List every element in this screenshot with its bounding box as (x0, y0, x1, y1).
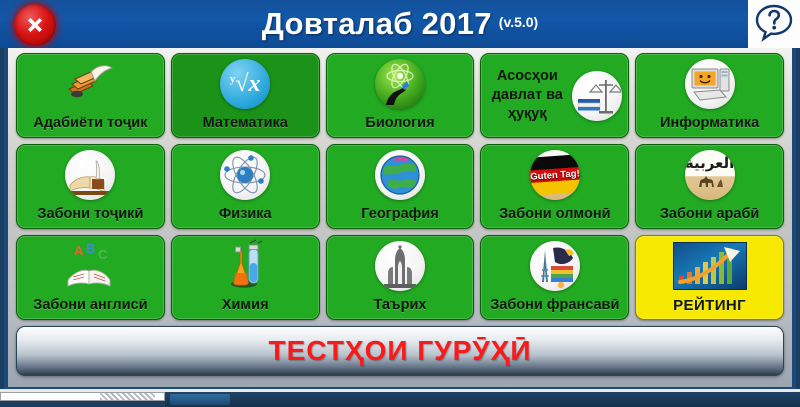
subject-tile-asoshoi-davlat-va-huquq[interactable]: Асосҳои давлат ва ҳуқуқ (480, 53, 629, 138)
subject-tile-label: Адабиёти тоҷик (19, 116, 162, 131)
subject-tile-himiya[interactable]: Химия (171, 235, 320, 320)
svg-text:C: C (98, 247, 108, 262)
svg-text:B: B (86, 241, 95, 256)
subject-tile-matematika[interactable]: y√x Математика (171, 53, 320, 138)
subject-tile-label: Забони арабӣ (638, 207, 781, 222)
icon-container (327, 149, 474, 201)
subject-tile-label: Асосҳои давлат ва ҳуқуқ (481, 67, 570, 124)
subject-row: A B C Забони англисӣ (16, 235, 784, 320)
subject-row: Адабиёти тоҷик y√x Математика (16, 53, 784, 138)
computer-smiley-icon (685, 59, 735, 109)
taskbar-background (165, 392, 800, 407)
icon-container (636, 240, 783, 292)
subject-tile-tarikh[interactable]: Таърих (326, 235, 475, 320)
german-flag-shape: Guten Tag! (530, 154, 580, 195)
subject-tile-zaboni-tojiki[interactable]: Забони тоҷикӣ (16, 144, 165, 229)
question-mark-icon (754, 2, 794, 47)
group-test-label: ТЕСТҲОИ ГУРӮҲӢ (269, 335, 532, 367)
german-flag-text: Guten Tag! (530, 169, 580, 181)
subject-tile-label: Забони англисӣ (19, 298, 162, 313)
subject-tile-label: Забони франсавӣ (483, 298, 626, 313)
subject-tile-zaboni-arabi[interactable]: العربية Забони арабӣ (635, 144, 784, 229)
icon-container (481, 240, 628, 292)
subject-tile-label: Таърих (329, 298, 472, 313)
square-root-icon: y√x (220, 59, 270, 109)
close-button[interactable] (14, 4, 56, 46)
title-bar: Довталаб 2017 (v.5.0) (0, 0, 800, 48)
subject-tile-label: География (329, 207, 472, 222)
rating-tile[interactable]: РЕЙТИНГ (635, 235, 784, 320)
window-title-text: Довталаб 2017 (262, 6, 492, 42)
books-stack-icon (63, 59, 117, 110)
abc-open-book-icon: A B C (62, 240, 118, 293)
application-window: Довталаб 2017 (v.5.0) (0, 0, 800, 407)
svg-text:A: A (74, 243, 84, 258)
quill-inkwell-book-icon (65, 150, 115, 200)
icon-container (327, 240, 474, 292)
rising-bar-chart-arrow-icon (673, 242, 747, 290)
rating-tile-label: РЕЙТИНГ (638, 298, 781, 313)
arabic-script-camel-icon: العربية (685, 150, 735, 200)
subject-tile-label: Химия (174, 298, 317, 313)
globe-icon (375, 150, 425, 200)
icon-container: A B C (17, 240, 164, 292)
subject-grid: Адабиёти тоҷик y√x Математика (16, 53, 784, 320)
subject-tile-fizika[interactable]: Физика (171, 144, 320, 229)
subject-tile-label: Физика (174, 207, 317, 222)
subject-tile-biologiya[interactable]: Биология (326, 53, 475, 138)
flask-testtube-icon (222, 239, 268, 294)
atom-leaf-hand-icon (375, 59, 425, 109)
subject-tile-adabiyoti-tojik[interactable]: Адабиёти тоҷик (16, 53, 165, 138)
eiffel-tower-books-icon (530, 241, 580, 291)
subject-row: Забони тоҷикӣ (16, 144, 784, 229)
taskbar-hatch-area (100, 393, 155, 400)
subject-tile-geografiya[interactable]: География (326, 144, 475, 229)
german-flag-icon: Guten Tag! (530, 150, 580, 200)
subject-tile-zaboni-fransavi[interactable]: Забони франсавӣ (480, 235, 629, 320)
subject-tile-informatika[interactable]: Информатика (635, 53, 784, 138)
icon-container (17, 149, 164, 201)
window-title: Довталаб 2017 (v.5.0) (0, 0, 800, 48)
subject-tile-label: Математика (174, 116, 317, 131)
help-button[interactable] (748, 0, 800, 48)
atom-orbit-icon (220, 150, 270, 200)
icon-container: y√x (172, 58, 319, 110)
subject-tile-zaboni-anglisi[interactable]: A B C Забони англисӣ (16, 235, 165, 320)
icon-container (636, 58, 783, 110)
icon-container (172, 149, 319, 201)
subject-tile-label: Биология (329, 116, 472, 131)
taskbar-window-button[interactable] (170, 394, 230, 405)
icon-container (172, 240, 319, 292)
icon-container (17, 58, 164, 110)
subject-tile-label: Забони тоҷикӣ (19, 207, 162, 222)
group-test-button[interactable]: ТЕСТҲОИ ГУРӮҲӢ (16, 326, 784, 376)
icon-container (570, 71, 628, 121)
client-area: Адабиёти тоҷик y√x Математика (4, 48, 796, 392)
monument-arch-icon (375, 241, 425, 291)
subject-tile-label: Информатика (638, 116, 781, 131)
subject-tile-label: Забони олмонӣ (483, 207, 626, 222)
icon-container (327, 58, 474, 110)
camel-silhouette-icon (685, 173, 735, 193)
subject-tile-zaboni-olmoni[interactable]: Guten Tag! Забони олмонӣ (480, 144, 629, 229)
justice-scales-book-icon (572, 71, 622, 121)
window-version-text: (v.5.0) (499, 14, 538, 34)
icon-container: Guten Tag! (481, 149, 628, 201)
desktop-taskbar (0, 392, 800, 407)
icon-container: العربية (636, 149, 783, 201)
arabic-script-text: العربية (685, 154, 735, 172)
